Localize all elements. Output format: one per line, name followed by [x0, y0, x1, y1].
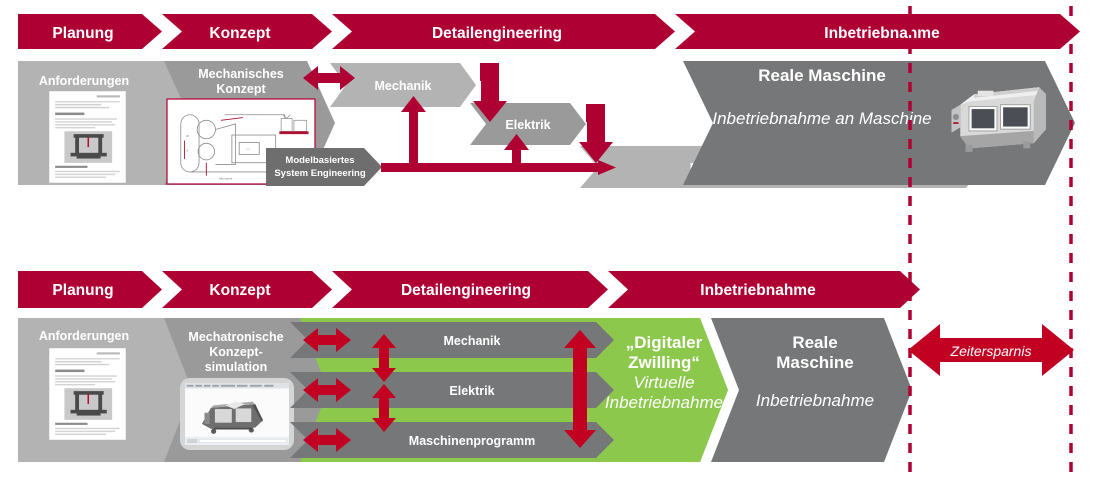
- mbse-tag-line1: Modelbasiertes: [285, 155, 354, 166]
- top-mechanik-label: Mechanik: [375, 79, 432, 93]
- process-comparison-diagram: Ø A ▪ ▪ Mechanik: [0, 0, 1101, 478]
- bottom-konzeptsim-label-line2: Konzept-: [209, 345, 262, 359]
- requirements-document-thumbnail-icon: [49, 91, 126, 183]
- bottom-phase-label-inbetriebnahme: Inbetriebnahme: [700, 282, 816, 299]
- top-block-reale-maschine: Reale Maschine Inbetriebnahme an Maschin…: [683, 61, 1075, 185]
- mechatronic-simulation-screenshot-icon: [185, 383, 289, 445]
- digitaler-zwilling-label-line1: „Digitaler: [626, 333, 703, 352]
- top-block-mechanik: Mechanik: [330, 63, 476, 107]
- top-phase-label-planung: Planung: [52, 25, 113, 42]
- bottom-phase-label-konzept: Konzept: [209, 282, 270, 299]
- top-phase-header: Planung Konzept Detailengineering Inbetr…: [18, 14, 1080, 49]
- zeitersparnis-label: Zeitersparnis: [950, 343, 1032, 359]
- digitaler-zwilling-subtitle-line2: Inbetriebnahme: [605, 393, 723, 412]
- bottom-konzeptsim-label-line1: Mechatronische: [188, 330, 283, 344]
- top-process-group: Planung Konzept Detailengineering Inbetr…: [18, 14, 1080, 188]
- bottom-block-reale-maschine: Reale Maschine Inbetriebnahme: [711, 318, 912, 462]
- top-elektrik-label: Elektrik: [505, 118, 550, 132]
- bottom-phase-label-detailengineering: Detailengineering: [401, 282, 531, 299]
- top-anforderungen-label: Anforderungen: [39, 74, 129, 88]
- top-reale-maschine-subtitle: Inbetriebnahme an Maschine: [712, 109, 931, 128]
- bottom-process-group: Planung Konzept Detailengineering Inbetr…: [18, 271, 920, 462]
- bottom-phase-label-planung: Planung: [52, 282, 113, 299]
- bottom-reale-maschine-subtitle: Inbetriebnahme: [756, 391, 874, 410]
- top-arrow-riser-mechanik: [401, 96, 426, 172]
- bottom-anforderungen-label: Anforderungen: [39, 329, 129, 343]
- top-mech-konzept-label-line1: Mechanisches: [198, 67, 284, 81]
- top-phase-label-konzept: Konzept: [209, 25, 270, 42]
- bottom-maschinenprogramm-label: Maschinenprogramm: [409, 434, 535, 448]
- mbse-tag-shape: [266, 148, 382, 186]
- bottom-reale-maschine-label-line2: Maschine: [776, 353, 853, 372]
- bottom-mechanik-label: Mechanik: [444, 334, 501, 348]
- digitaler-zwilling-subtitle-line1: Virtuelle: [633, 373, 694, 392]
- bottom-konzeptsim-label-line3: simulation: [205, 360, 268, 374]
- bottom-elektrik-label: Elektrik: [449, 384, 494, 398]
- requirements-document-thumbnail-icon-2: [49, 348, 126, 440]
- top-tag-mbse: Modelbasiertes System Engineering: [266, 148, 382, 186]
- top-mech-konzept-label-line2: Konzept: [216, 82, 266, 96]
- digitaler-zwilling-label-line2: Zwilling“: [628, 353, 700, 372]
- bottom-reale-maschine-label-line1: Reale: [792, 333, 837, 352]
- top-phase-label-inbetriebnahme: Inbetriebnahme: [824, 25, 940, 42]
- top-reale-maschine-label: Reale Maschine: [758, 66, 886, 85]
- diagram-canvas: Ø A ▪ ▪ Mechanik: [0, 0, 1101, 478]
- top-phase-label-detailengineering: Detailengineering: [432, 25, 562, 42]
- mbse-tag-line2: System Engineering: [274, 168, 366, 179]
- bottom-phase-header: Planung Konzept Detailengineering Inbetr…: [18, 271, 920, 308]
